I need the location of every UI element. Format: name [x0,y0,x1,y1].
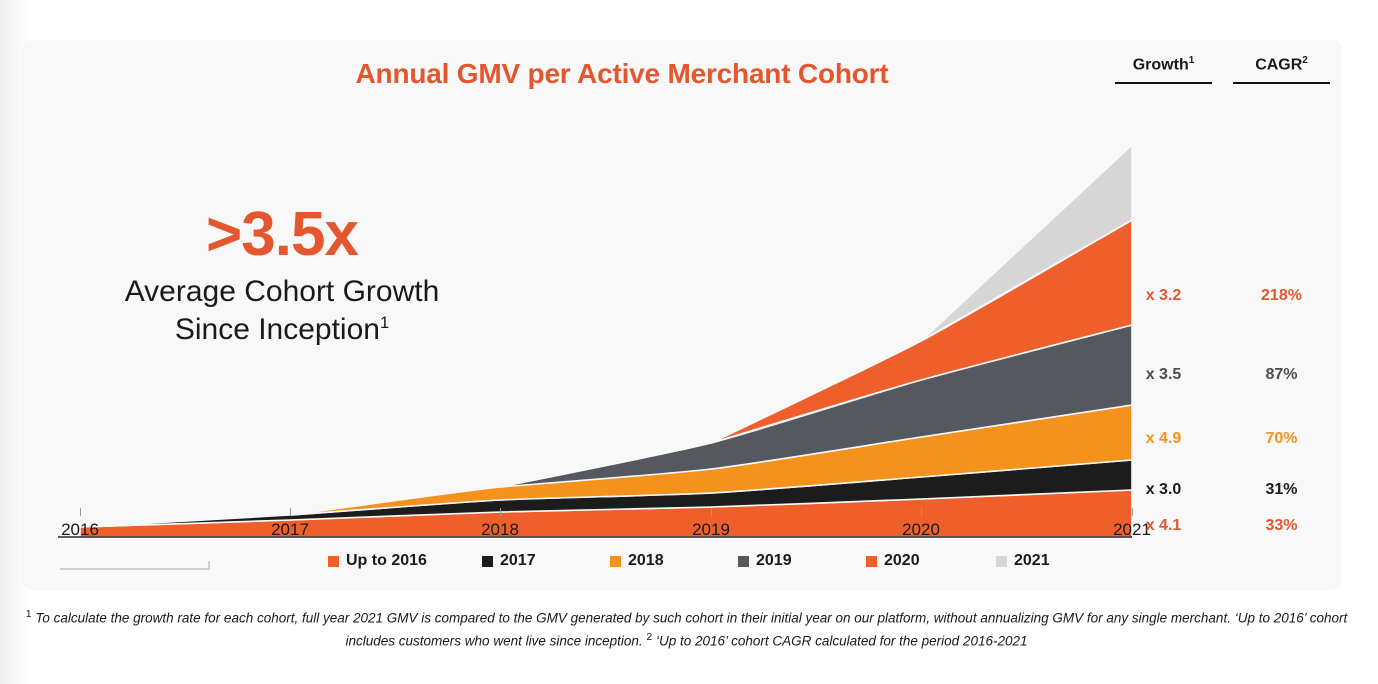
growth-column-header: Growth1 [1115,55,1212,82]
footnote: 1 To calculate the growth rate for each … [14,606,1359,653]
cagr-header-rule [1233,82,1330,84]
chart-legend: Up to 201620172018201920202021 [290,552,1070,576]
x-axis-tickmark [290,508,291,516]
x-axis-tickmark [500,508,501,516]
page-title: Annual GMV per Active Merchant Cohort [202,58,1042,90]
area-band-2018 [290,405,1132,515]
metrics-table: Growth1 CAGR2 x 3.2218%x 3.587%x 4.970%x… [1115,55,1337,525]
slide-root: Annual GMV per Active Merchant Cohort >3… [0,0,1378,684]
scrollbar-end-cap [208,561,210,570]
growth-value-row-4: x 3.0 [1115,481,1212,499]
cagr-value-row-1: 218% [1233,287,1330,305]
legend-swatch-icon [482,556,493,567]
legend-swatch-icon [328,556,339,567]
legend-item-label: 2020 [884,552,920,570]
area-band-2020 [711,220,1132,443]
legend-item-label: Up to 2016 [346,552,427,570]
growth-header-label: Growth [1133,56,1189,73]
callout-headline: >3.5x [82,202,482,267]
cagr-value-row-2: 87% [1233,366,1330,384]
area-band-2021 [921,145,1132,341]
x-axis-label-2019: 2019 [692,520,730,540]
growth-value-row-3: x 4.9 [1115,430,1212,448]
x-axis-label-2017: 2017 [271,520,309,540]
growth-value-row-2: x 3.5 [1115,366,1212,384]
legend-swatch-icon [866,556,877,567]
legend-item-2021[interactable]: 2021 [996,552,1050,570]
cagr-header-label: CAGR [1255,56,1302,73]
growth-value-row-5: x 4.1 [1115,517,1212,535]
scrollbar-rule[interactable] [60,562,210,572]
scrollbar-track [60,568,210,570]
callout-subtext: Average Cohort Growth Since Inception1 [82,273,482,350]
growth-header-sup: 1 [1189,55,1195,66]
footnote-text-2: ‘Up to 2016’ cohort CAGR calculated for … [652,634,1027,649]
growth-column: Growth1 [1115,55,1212,84]
legend-swatch-icon [738,556,749,567]
growth-header-rule [1115,82,1212,84]
cagr-value-row-5: 33% [1233,517,1330,535]
legend-swatch-icon [996,556,1007,567]
growth-value-row-1: x 3.2 [1115,287,1212,305]
cagr-header-sup: 2 [1302,55,1308,66]
legend-item-2017[interactable]: 2017 [482,552,536,570]
legend-item-2019[interactable]: 2019 [738,552,792,570]
x-axis-label-2018: 2018 [481,520,519,540]
x-axis-label-2016: 2016 [61,520,99,540]
legend-item-label: 2019 [756,552,792,570]
legend-item-2020[interactable]: 2020 [866,552,920,570]
callout-footnote-marker: 1 [380,314,389,332]
x-axis-tickmark [921,508,922,516]
legend-item-label: 2018 [628,552,664,570]
legend-item-label: 2017 [500,552,536,570]
legend-swatch-icon [610,556,621,567]
x-axis-label-2020: 2020 [902,520,940,540]
cagr-column-header: CAGR2 [1233,55,1330,82]
x-axis-tickmark [80,508,81,516]
x-axis-tickmark [711,508,712,516]
cagr-value-row-4: 31% [1233,481,1330,499]
chart-card: Annual GMV per Active Merchant Cohort >3… [22,40,1342,590]
legend-item-2018[interactable]: 2018 [610,552,664,570]
legend-item-up-to-2016[interactable]: Up to 2016 [328,552,427,570]
callout-line-1: Average Cohort Growth [125,275,440,308]
area-band-2019 [500,325,1132,487]
cagr-column: CAGR2 [1233,55,1330,84]
cagr-value-row-3: 70% [1233,430,1330,448]
callout-block: >3.5x Average Cohort Growth Since Incept… [82,202,482,350]
legend-item-label: 2021 [1014,552,1050,570]
callout-line-2: Since Inception [175,313,380,346]
